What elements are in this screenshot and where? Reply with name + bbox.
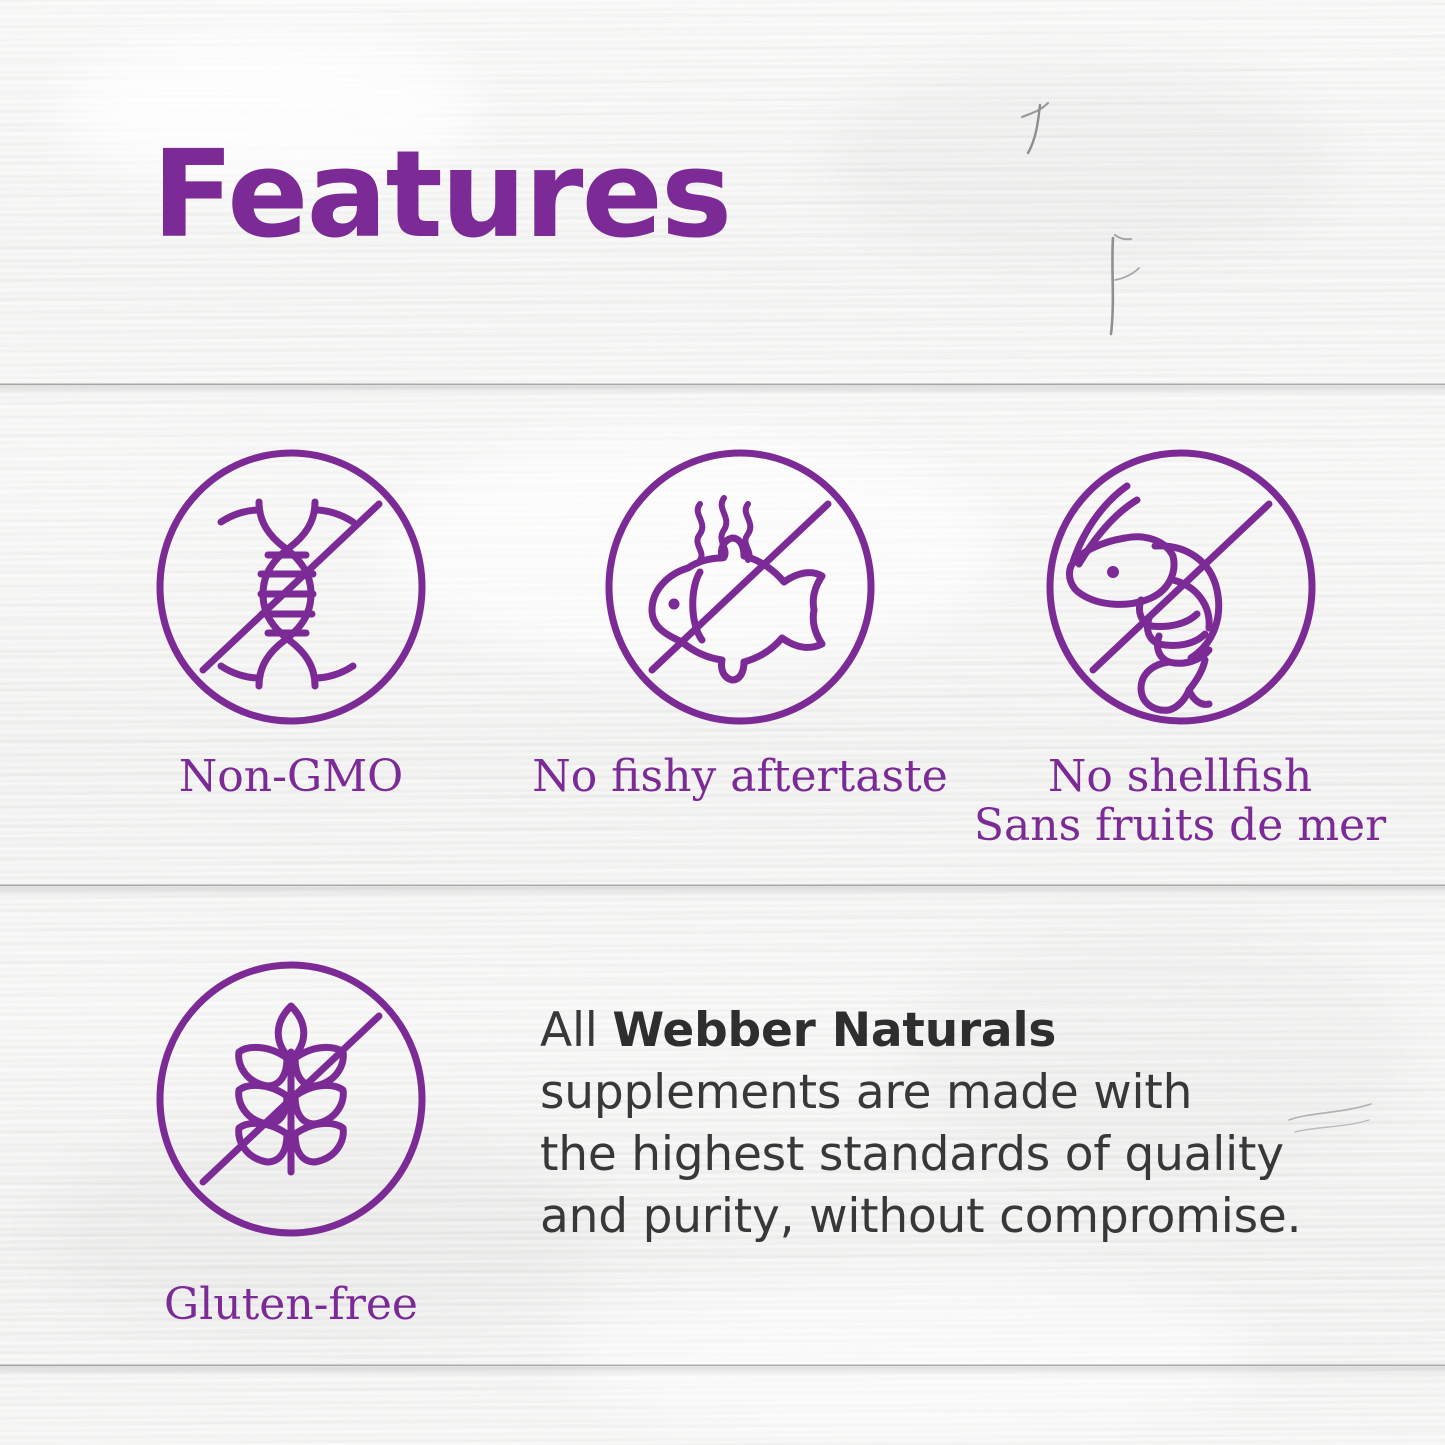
- brand-statement: All Webber Naturals supplements are made…: [540, 1000, 1330, 1248]
- plank-seam: [0, 884, 1445, 887]
- brand-statement-line-1: All Webber Naturals: [540, 1000, 1330, 1062]
- feature-label-no-fishy-aftertaste: No fishy aftertaste: [500, 752, 980, 801]
- feature-non-gmo: Non-GMO: [155, 448, 427, 801]
- brand-name: Webber Naturals: [612, 1003, 1056, 1058]
- brand-statement-line-2: supplements are made with: [540, 1062, 1330, 1124]
- no-shellfish-shrimp-icon: [1045, 448, 1317, 726]
- feature-gluten-free: Gluten-free: [155, 960, 427, 1329]
- page-title: Features: [152, 136, 730, 256]
- brand-statement-prefix: All: [540, 1003, 612, 1058]
- no-fishy-aftertaste-fish-icon: [604, 448, 876, 726]
- gluten-free-badge: [155, 960, 427, 1238]
- no-fishy-aftertaste-badge: [604, 448, 876, 726]
- gluten-free-wheat-icon: [155, 960, 427, 1238]
- plank-seam: [0, 1364, 1445, 1367]
- wood-knot-mark: [1010, 95, 1070, 165]
- feature-label-gluten-free: Gluten-free: [155, 1280, 427, 1329]
- wood-blotch: [820, 60, 1340, 260]
- feature-label-no-shellfish: No shellfish Sans fruits de mer: [940, 752, 1420, 851]
- feature-no-shellfish: No shellfish Sans fruits de mer: [940, 448, 1420, 851]
- brand-statement-line-4: and purity, without compromise.: [540, 1186, 1330, 1248]
- feature-label-no-shellfish-en: No shellfish: [940, 752, 1420, 801]
- feature-no-fishy-aftertaste: No fishy aftertaste: [500, 448, 980, 801]
- feature-label-non-gmo: Non-GMO: [155, 752, 427, 801]
- feature-label-no-shellfish-fr: Sans fruits de mer: [940, 801, 1420, 850]
- no-shellfish-badge: [1045, 448, 1317, 726]
- wood-knot-mark: [1085, 230, 1165, 345]
- feature-panel: Features: [0, 0, 1445, 1445]
- wood-blotch: [560, 1270, 1260, 1440]
- plank-seam: [0, 383, 1445, 386]
- no-gmo-dna-icon: [155, 448, 427, 726]
- no-gmo-badge: [155, 448, 427, 726]
- brand-statement-line-3: the highest standards of quality: [540, 1124, 1330, 1186]
